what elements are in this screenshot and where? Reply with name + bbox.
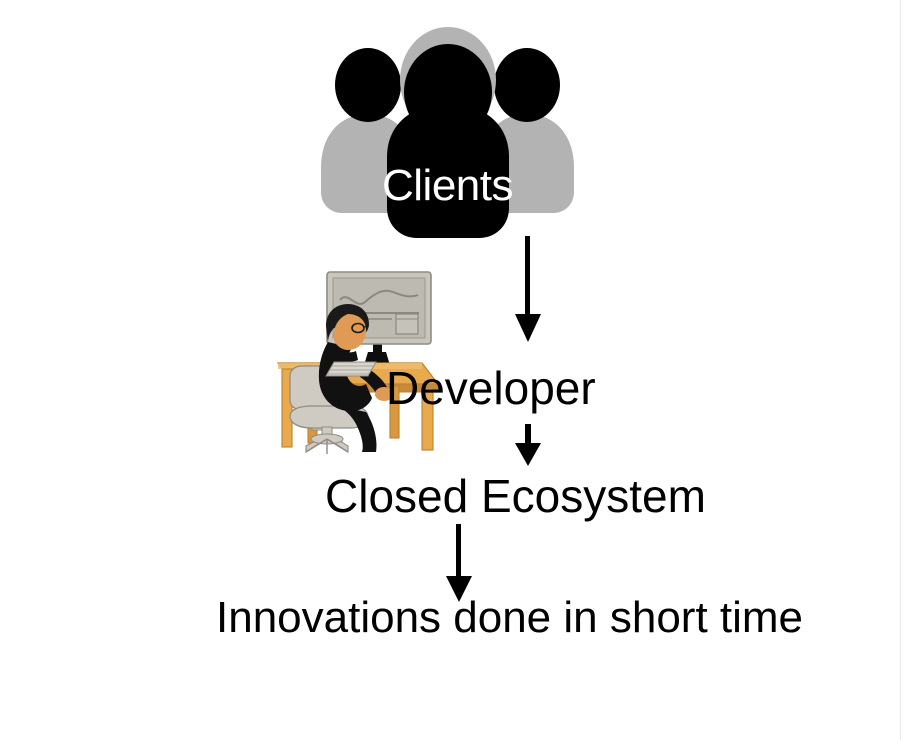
slide-right-rule bbox=[900, 0, 901, 740]
closed-ecosystem-label: Closed Ecosystem bbox=[325, 468, 706, 524]
arrow-developer-to-ecosystem bbox=[511, 424, 545, 468]
developer-label: Developer bbox=[386, 360, 596, 416]
diagram-slide: Clients bbox=[0, 0, 922, 740]
people-group-icon bbox=[305, 22, 590, 247]
arrow-clients-to-developer bbox=[511, 236, 545, 344]
innovations-label: Innovations done in short time bbox=[216, 591, 803, 645]
